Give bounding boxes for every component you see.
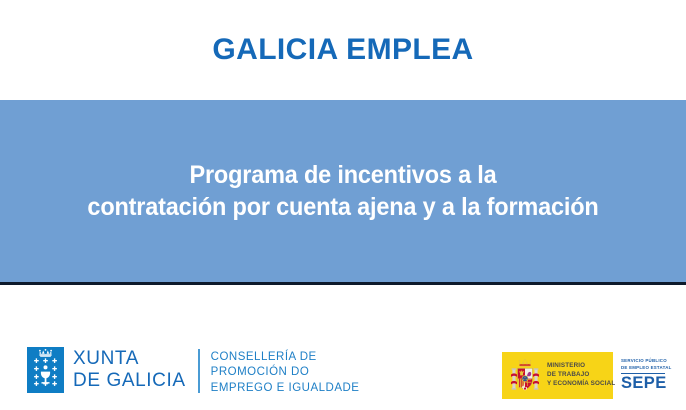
- page-title: GALICIA EMPLEA: [212, 35, 473, 65]
- conselleria-text: CONSELLERÍA DE PROMOCIÓN DO EMPREGO E IG…: [211, 347, 360, 396]
- program-banner-line-1: Programa de incentivos a la: [33, 159, 653, 191]
- ministerio-trabajo-logo: MINISTERIO DE TRABAJO Y ECONOMÍA SOCIAL: [502, 352, 613, 399]
- conselleria-line-2: PROMOCIÓN DO: [211, 365, 360, 380]
- sepe-subtitle: SERVICIO PÚBLICO DE EMPLEO ESTATAL: [621, 358, 668, 371]
- ministerio-line-2: DE TRABAJO: [547, 371, 615, 380]
- ministerio-line-3: Y ECONOMÍA SOCIAL: [547, 380, 615, 389]
- ministerio-line-1: MINISTERIO: [547, 362, 615, 371]
- program-banner-line-2: contratación por cuenta ajena y a la for…: [33, 191, 653, 223]
- footer-logos-area: XUNTA DE GALICIA CONSELLERÍA DE PROMOCIÓ…: [0, 285, 686, 410]
- header-area: GALICIA EMPLEA: [0, 0, 686, 100]
- xunta-wordmark-line-1: XUNTA: [73, 348, 186, 370]
- program-banner: Programa de incentivos a la contratación…: [0, 100, 686, 282]
- spain-coat-of-arms-icon: [510, 358, 540, 394]
- sepe-subtitle-line-2: DE EMPLEO ESTATAL: [621, 365, 668, 372]
- logo-divider: [198, 349, 200, 393]
- conselleria-line-3: EMPREGO E IGUALDADE: [211, 381, 360, 396]
- xunta-wordmark: XUNTA DE GALICIA: [73, 347, 186, 393]
- xunta-wordmark-line-2: DE GALICIA: [73, 370, 186, 392]
- sepe-subtitle-line-1: SERVICIO PÚBLICO: [621, 358, 668, 365]
- program-banner-text: Programa de incentivos a la contratación…: [33, 159, 653, 223]
- sepe-acronym: SEPE: [621, 375, 668, 392]
- ministerio-text: MINISTERIO DE TRABAJO Y ECONOMÍA SOCIAL: [547, 362, 615, 389]
- galicia-coat-of-arms-icon: [27, 347, 64, 393]
- sepe-logo: SERVICIO PÚBLICO DE EMPLEO ESTATAL SEPE: [615, 352, 673, 399]
- xunta-de-galicia-logo: XUNTA DE GALICIA CONSELLERÍA DE PROMOCIÓ…: [27, 347, 359, 396]
- conselleria-line-1: CONSELLERÍA DE: [211, 350, 360, 365]
